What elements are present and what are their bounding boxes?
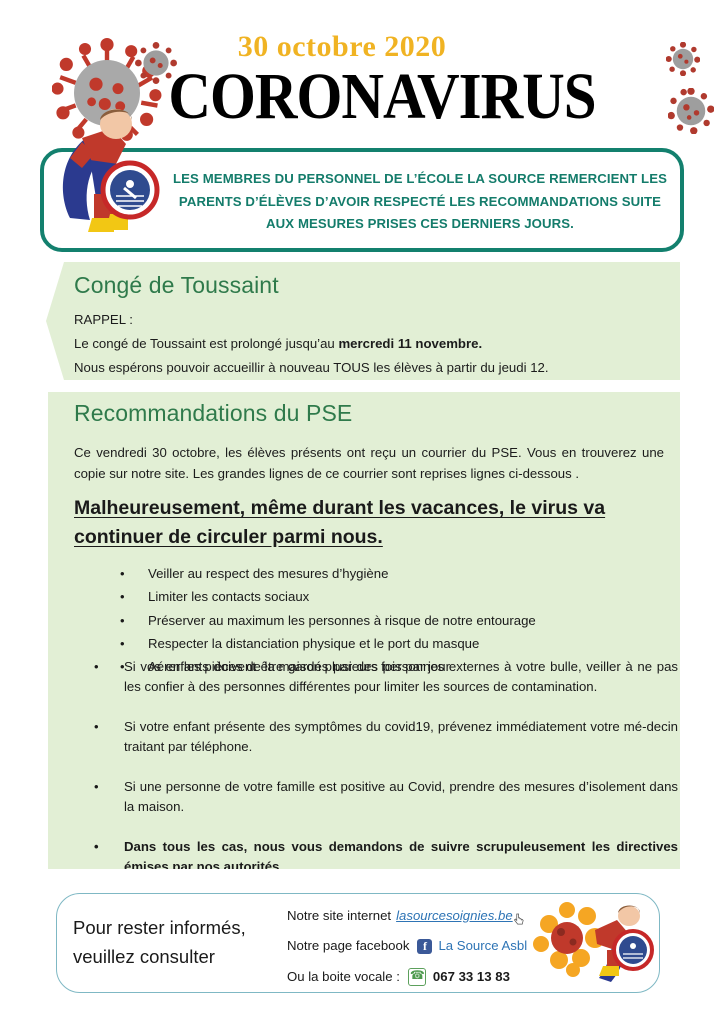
cursor-hand-icon [514, 913, 525, 926]
poster-header: 30 octobre 2020 CORONAVIRUS [0, 0, 724, 150]
phone-number[interactable]: 067 33 13 83 [433, 968, 510, 986]
phone-icon [408, 968, 426, 986]
pse-measures-list: Si vos enfants doivent être gardés par d… [74, 657, 678, 897]
footer-website-row: Notre site internet lasourcesoignies.be [287, 907, 547, 925]
thanks-line-2: PARENTS D’ÉLÈVES D’AVOIR RESPECTÉ LES RE… [164, 191, 676, 214]
pse-warning-line-1: Malheureusement, même durant les vacance… [74, 494, 672, 523]
website-link[interactable]: lasourcesoignies.be [396, 907, 513, 925]
facebook-page-name[interactable]: La Source Asbl [438, 937, 527, 955]
hygiene-list-item: Respecter la distanciation physique et l… [148, 634, 708, 657]
pse-warning-line-2: continuer de circuler parmi nous. [74, 523, 672, 552]
footer-contacts: Notre site internet lasourcesoignies.be … [287, 907, 547, 998]
thanks-banner-text: LES MEMBRES DU PERSONNEL DE L’ÉCOLE LA S… [164, 168, 676, 236]
facebook-label: Notre page facebook [287, 937, 409, 955]
poster-page: 30 octobre 2020 CORONAVIRUS LES MEMBRES … [0, 0, 724, 1024]
facebook-icon[interactable]: f [417, 939, 432, 954]
conge-prolonge: Le congé de Toussaint est prolongé jusqu… [74, 334, 482, 354]
thanks-line-3: AUX MESURES PRISES CES DERNIERS JOURS. [164, 213, 676, 236]
hygiene-list-item: Limiter les contacts sociaux [148, 587, 708, 610]
hygiene-list-item: Veiller au respect des mesures d’hygiène [148, 564, 708, 587]
conge-retour: Nous espérons pouvoir accueillir à nouve… [74, 358, 549, 378]
mascot-superhero [52, 98, 172, 238]
footer-phone-row: Ou la boite vocale : 067 33 13 83 [287, 968, 547, 986]
footer-mascot-graphic [533, 900, 655, 990]
conge-date: mercredi 11 novembre. [338, 336, 482, 351]
measure-list-item: Si votre enfant présente des symptômes d… [74, 717, 678, 758]
footer-prompt: Pour rester informés, veuillez consulter [73, 914, 283, 971]
footer-prompt-line-2: veuillez consulter [73, 943, 283, 972]
website-label: Notre site internet [287, 907, 391, 925]
contact-footer: Pour rester informés, veuillez consulter… [56, 893, 660, 993]
pse-warning: Malheureusement, même durant les vacance… [74, 494, 672, 551]
conge-rappel: RAPPEL : [74, 310, 133, 330]
voicemail-label: Ou la boite vocale : [287, 968, 400, 986]
measure-list-item: Si vos enfants doivent être gardés par d… [74, 657, 678, 698]
footer-facebook-row: Notre page facebook f La Source Asbl [287, 937, 547, 955]
footer-prompt-line-1: Pour rester informés, [73, 914, 283, 943]
section-conge-toussaint: Congé de Toussaint RAPPEL : Le congé de … [46, 262, 680, 380]
measure-list-item: Si une personne de votre famille est pos… [74, 777, 678, 818]
measure-list-item: Dans tous les cas, nous vous demandons d… [74, 837, 678, 878]
hygiene-list-item: Préserver au maximum les personnes à ris… [148, 611, 708, 634]
conge-title: Congé de Toussaint [74, 272, 279, 299]
thanks-line-1: LES MEMBRES DU PERSONNEL DE L’ÉCOLE LA S… [164, 168, 676, 191]
section-recommandations-pse: Recommandations du PSE Ce vendredi 30 oc… [46, 392, 680, 869]
pse-title: Recommandations du PSE [74, 400, 352, 427]
conge-prolonge-text: Le congé de Toussaint est prolongé jusqu… [74, 336, 338, 351]
pse-intro: Ce vendredi 30 octobre, les élèves prése… [74, 442, 664, 485]
